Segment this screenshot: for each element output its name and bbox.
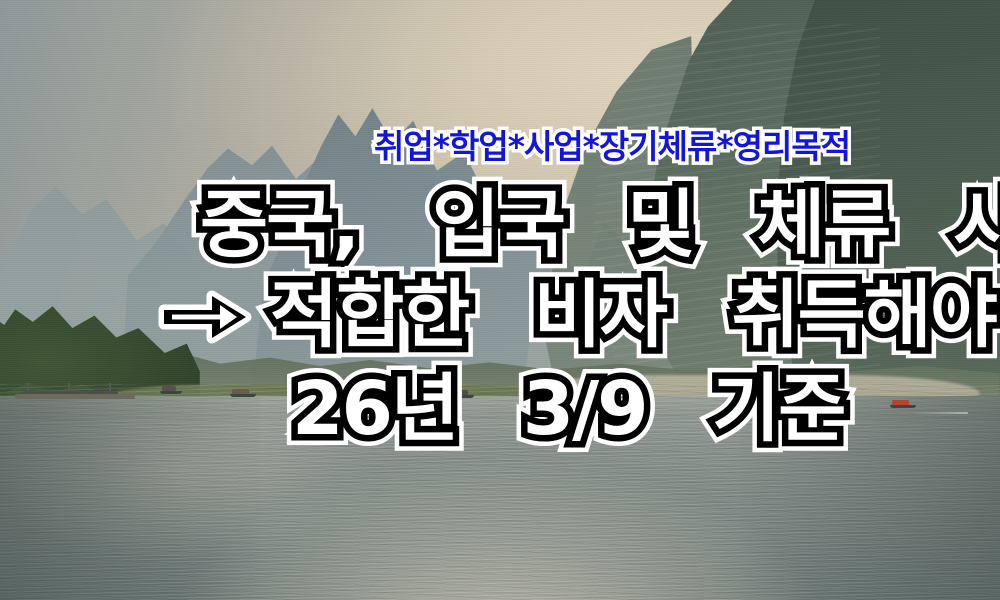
segment-fill: 및 [628,188,694,262]
headline-segment-date: 3/9 3/9 3/9 3/9 [523,372,647,446]
headline-segment-jeokhaphan: 적합한 적합한 적합한 적합한 [270,278,468,352]
headline-line-1: 중국, 중국, 중국, 중국, 입국 입국 입국 입국 및 및 및 및 [200,188,1000,262]
thumbnail-canvas: 취업*학업*사업*장기체류*영리목적 중국, 중국, 중국, 중국, 입국 입국… [0,0,1000,600]
segment-fill: 비자 [534,278,666,352]
headline-segment-chwideukhaeya: 취득해야 취득해야 취득해야 취득해야 [731,278,995,352]
segment-fill: 체류 [757,188,889,262]
segment-fill: 시 [953,188,1000,262]
segment-fill: 기준 [712,372,844,446]
headline-segment-cheryu: 체류 체류 체류 체류 [757,188,889,262]
headline-segment-ipgug: 입국 입국 입국 입국 [432,188,564,262]
segment-fill: 입국 [432,188,564,262]
segment-fill: 3/9 [523,372,647,446]
headline-segment-year: 26년 26년 26년 26년 [292,372,457,446]
headline-segment-junggug: 중국, 중국, 중국, 중국, [200,188,358,262]
segment-fill: 취득해야 [731,278,995,352]
segment-fill: 26년 [292,372,457,446]
headline-segment-si: 시 시 시 시 [953,188,1000,262]
kicker-text: 취업*학업*사업*장기체류*영리목적 [374,130,850,163]
headline-segment-mit: 및 및 및 및 [628,188,694,262]
headline-segment-gijun: 기준 기준 기준 기준 [712,372,844,446]
text-overlay: 취업*학업*사업*장기체류*영리목적 중국, 중국, 중국, 중국, 입국 입국… [0,0,1000,600]
segment-fill: 적합한 [270,278,468,352]
segment-fill: 중국, [200,188,358,262]
headline-line-2: 적합한 적합한 적합한 적합한 비자 비자 비자 비자 취득해야 취득해야 취득… [270,278,996,352]
headline-line-3: 26년 26년 26년 26년 3/9 3/9 3/9 3/9 기준 기준 기준… [292,372,844,446]
arrow-right-icon [158,286,254,348]
headline-segment-bija: 비자 비자 비자 비자 [534,278,666,352]
